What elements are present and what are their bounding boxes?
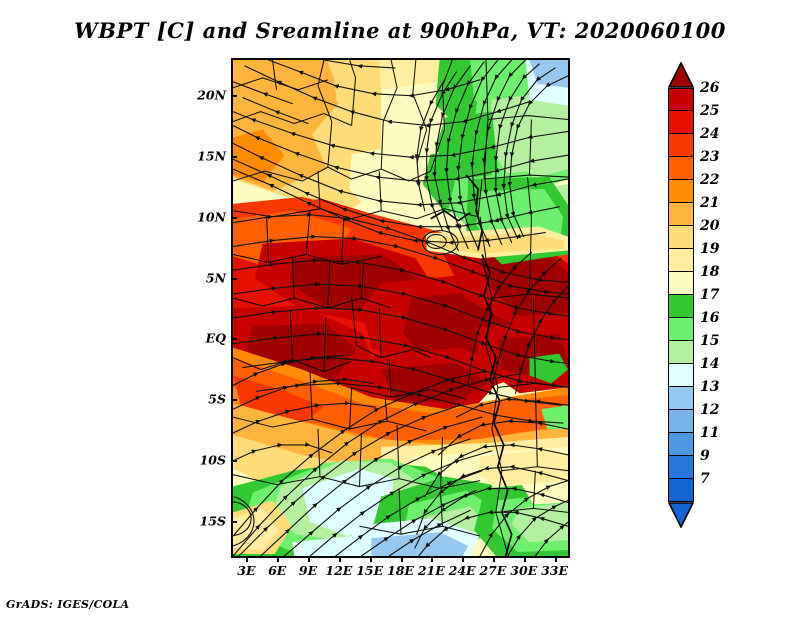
colorbar-tick-label: 22 xyxy=(700,172,719,188)
colorbar-segment xyxy=(668,203,694,226)
x-tick-mark xyxy=(339,556,341,562)
colorbar-tick-label: 18 xyxy=(700,264,719,280)
colorbar: 2625242322212019181716151413121197 xyxy=(668,62,694,548)
colorbar-top-arrow xyxy=(668,62,694,88)
colorbar-segment xyxy=(668,88,694,111)
x-tick-label: 18E xyxy=(387,563,414,578)
y-tick-mark xyxy=(231,399,237,401)
colorbar-segment xyxy=(668,180,694,203)
colorbar-tick-label: 16 xyxy=(700,310,719,326)
colorbar-tick-label: 21 xyxy=(700,195,719,211)
colorbar-segment xyxy=(668,272,694,295)
colorbar-segment xyxy=(668,341,694,364)
y-tick-mark xyxy=(231,217,237,219)
x-tick-label: 6E xyxy=(268,563,286,578)
x-tick-mark xyxy=(401,556,403,562)
colorbar-tick-label: 11 xyxy=(700,425,719,441)
colorbar-tick-label: 19 xyxy=(700,241,719,257)
x-tick-label: 33E xyxy=(541,563,568,578)
x-tick-label: 12E xyxy=(325,563,352,578)
colorbar-segment xyxy=(668,433,694,456)
colorbar-segment xyxy=(668,387,694,410)
colorbar-tick-label: 25 xyxy=(700,103,719,119)
colorbar-segment xyxy=(668,456,694,479)
y-tick-mark xyxy=(231,278,237,280)
y-tick-mark xyxy=(231,460,237,462)
colorbar-tick-label: 13 xyxy=(700,379,719,395)
colorbar-segment xyxy=(668,295,694,318)
x-tick-mark xyxy=(246,556,248,562)
colorbar-segment xyxy=(668,134,694,157)
colorbar-segment xyxy=(668,318,694,341)
x-tick-mark xyxy=(431,556,433,562)
colorbar-bottom-arrow xyxy=(668,502,694,528)
y-tick-mark xyxy=(231,338,237,340)
colorbar-segment xyxy=(668,111,694,134)
colorbar-tick-label: 9 xyxy=(700,448,710,464)
x-tick-mark xyxy=(277,556,279,562)
page-title: WBPT [C] and Sreamline at 900hPa, VT: 20… xyxy=(0,18,800,43)
x-tick-label: 24E xyxy=(449,563,476,578)
y-tick-label: 10N xyxy=(197,209,226,224)
y-axis-labels: 20N15N10N5NEQ5S10S15S xyxy=(190,58,226,558)
colorbar-segment xyxy=(668,364,694,387)
x-tick-mark xyxy=(370,556,372,562)
colorbar-tick-label: 12 xyxy=(700,402,719,418)
colorbar-segment xyxy=(668,249,694,272)
y-tick-mark xyxy=(231,95,237,97)
colorbar-tick-label: 24 xyxy=(700,126,719,142)
x-tick-label: 27E xyxy=(479,563,506,578)
x-tick-mark xyxy=(555,556,557,562)
wbpt-streamline-map xyxy=(233,60,568,556)
x-tick-label: 30E xyxy=(510,563,537,578)
x-tick-label: 3E xyxy=(237,563,255,578)
y-tick-label: 5N xyxy=(206,270,226,285)
colorbar-tick-label: 26 xyxy=(700,80,719,96)
colorbar-tick-label: 17 xyxy=(700,287,719,303)
x-tick-mark xyxy=(308,556,310,562)
map-plot-area xyxy=(231,58,570,558)
y-tick-label: 5S xyxy=(208,392,226,407)
x-tick-mark xyxy=(493,556,495,562)
x-axis-labels: 3E6E9E12E15E18E21E24E27E30E33E xyxy=(0,563,800,583)
colorbar-tick-label: 23 xyxy=(700,149,719,165)
x-tick-mark xyxy=(524,556,526,562)
attribution-footer: GrADS: IGES/COLA xyxy=(6,598,129,611)
x-tick-label: 15E xyxy=(356,563,383,578)
x-tick-label: 9E xyxy=(299,563,317,578)
colorbar-tick-label: 20 xyxy=(700,218,719,234)
y-tick-label: EQ xyxy=(206,331,226,346)
colorbar-segment xyxy=(668,157,694,180)
y-tick-label: 15S xyxy=(200,514,226,529)
y-tick-mark xyxy=(231,521,237,523)
colorbar-segment xyxy=(668,410,694,433)
colorbar-tick-label: 7 xyxy=(700,471,710,487)
y-tick-mark xyxy=(231,156,237,158)
y-tick-label: 10S xyxy=(200,453,226,468)
y-tick-label: 20N xyxy=(197,87,226,102)
colorbar-segment xyxy=(668,479,694,502)
colorbar-tick-label: 14 xyxy=(700,356,719,372)
colorbar-swatches xyxy=(668,88,694,502)
y-tick-label: 15N xyxy=(197,148,226,163)
x-tick-label: 21E xyxy=(418,563,445,578)
colorbar-tick-label: 15 xyxy=(700,333,719,349)
colorbar-segment xyxy=(668,226,694,249)
x-tick-mark xyxy=(462,556,464,562)
